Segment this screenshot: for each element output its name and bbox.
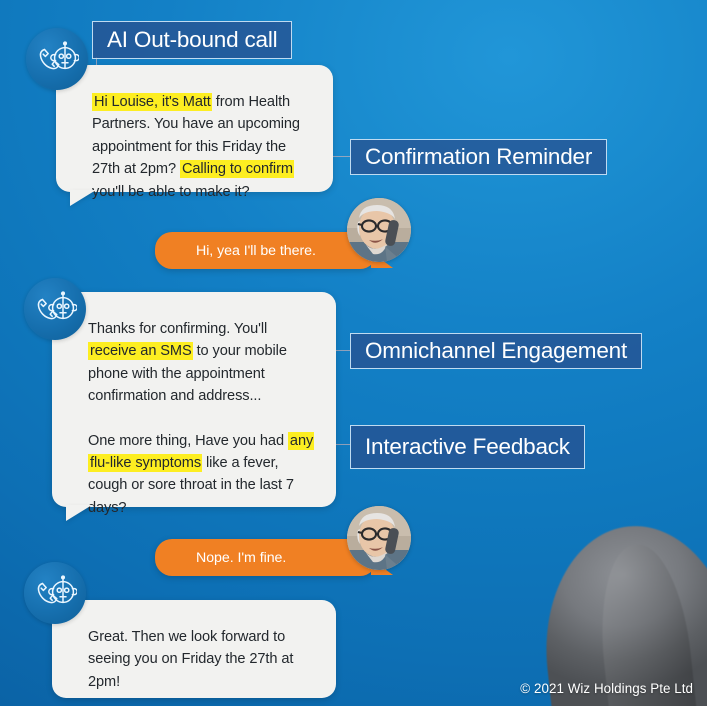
robot-phone-icon: [33, 575, 77, 611]
bubble-tail: [70, 190, 96, 206]
label-confirmation-reminder-text: Confirmation Reminder: [351, 146, 606, 169]
background-person-silhouette: [534, 517, 707, 706]
chat-bubble-bot-2-text: Thanks for confirming. You'll receive an…: [88, 318, 314, 519]
chat-bubble-user-2: Nope. I'm fine.: [155, 539, 377, 576]
chat-bubble-bot-1: Hi Louise, it's Matt from Health Partner…: [56, 65, 333, 192]
chat-bubble-user-1-text: Hi, yea I'll be there.: [196, 242, 316, 260]
chat-bubble-user-2-text: Nope. I'm fine.: [196, 549, 286, 567]
label-omnichannel-engagement[interactable]: Omnichannel Engagement: [350, 333, 642, 369]
paragraph: Thanks for confirming. You'll receive an…: [88, 318, 314, 408]
label-ai-outbound-call[interactable]: AI Out-bound call: [92, 21, 292, 59]
user-avatar-2: [347, 506, 411, 570]
paragraph: Hi Louise, it's Matt from Health Partner…: [92, 91, 311, 203]
plain-1: Thanks for confirming. You'll: [88, 321, 267, 337]
robot-phone-icon: [35, 41, 79, 77]
chat-bubble-bot-2: Thanks for confirming. You'll receive an…: [52, 292, 336, 507]
elderly-man-on-phone-photo: [347, 506, 411, 570]
label-interactive-feedback[interactable]: Interactive Feedback: [350, 425, 585, 469]
label-interactive-feedback-text: Interactive Feedback: [351, 436, 584, 459]
chat-bubble-user-1: Hi, yea I'll be there.: [155, 232, 377, 269]
copyright-text: © 2021 Wiz Holdings Pte Ltd: [520, 681, 693, 696]
label-omnichannel-engagement-text: Omnichannel Engagement: [351, 340, 641, 363]
bubble-tail: [66, 505, 92, 521]
robot-phone-icon: [33, 291, 77, 327]
label-ai-outbound-call-text: AI Out-bound call: [93, 29, 291, 52]
user-avatar-1: [347, 198, 411, 262]
chat-bubble-bot-1-text: Hi Louise, it's Matt from Health Partner…: [92, 91, 311, 203]
elderly-man-on-phone-photo: [347, 198, 411, 262]
bot-avatar-1: [26, 28, 88, 90]
chat-bubble-bot-3: Great. Then we look forward to seeing yo…: [52, 600, 336, 698]
highlight-1: Hi Louise, it's Matt: [92, 93, 212, 111]
highlight-1: receive an SMS: [88, 342, 193, 360]
conversation-infographic: AI Out-bound call Hi Louise, it's Matt f…: [0, 0, 707, 706]
plain-2: you'll be able to make it?: [92, 184, 250, 200]
bot-avatar-2: [24, 278, 86, 340]
bot-avatar-3: [24, 562, 86, 624]
paragraph: Great. Then we look forward to seeing yo…: [88, 626, 314, 693]
chat-bubble-bot-3-text: Great. Then we look forward to seeing yo…: [88, 626, 314, 693]
plain-3: One more thing, Have you had: [88, 433, 288, 449]
paragraph: One more thing, Have you had any flu-lik…: [88, 430, 314, 520]
plain-1: Great. Then we look forward to seeing yo…: [88, 629, 293, 690]
label-confirmation-reminder[interactable]: Confirmation Reminder: [350, 139, 607, 175]
highlight-2: Calling to confirm: [180, 160, 294, 178]
